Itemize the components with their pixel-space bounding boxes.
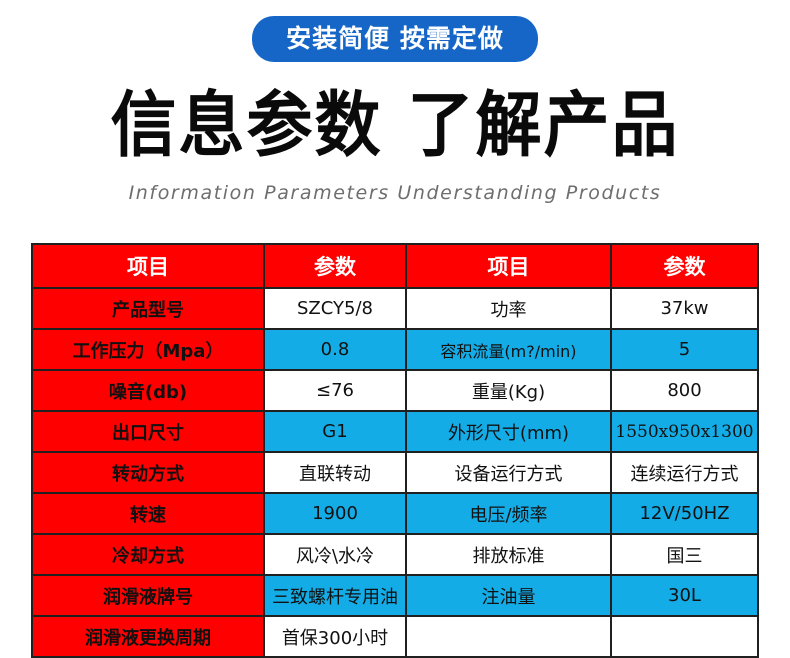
table-row: 出口尺寸G1外形尺寸(mm)1550x950x1300 [32, 411, 758, 452]
row-value-cell: 连续运行方式 [611, 452, 758, 493]
row-label-cell: 产品型号 [32, 288, 264, 329]
table-row: 冷却方式风冷\水冷排放标准国三 [32, 534, 758, 575]
row-label-cell: 工作压力（Mpa） [32, 329, 264, 370]
page-subtitle: Information Parameters Understanding Pro… [0, 182, 790, 204]
specification-table: 项目 参数 项目 参数 产品型号SZCY5/8功率37kw工作压力（Mpa）0.… [31, 243, 759, 658]
row-value-cell: G1 [264, 411, 406, 452]
row-value-cell: 外形尺寸(mm) [406, 411, 611, 452]
row-label-cell: 润滑液更换周期 [32, 616, 264, 657]
row-value-cell: 12V/50HZ [611, 493, 758, 534]
table-row: 工作压力（Mpa）0.8容积流量(m?/min)5 [32, 329, 758, 370]
row-value-cell: 30L [611, 575, 758, 616]
row-label-cell: 转动方式 [32, 452, 264, 493]
row-value-cell: 5 [611, 329, 758, 370]
table-row: 润滑液牌号三致螺杆专用油注油量30L [32, 575, 758, 616]
row-value-cell: 重量(Kg) [406, 370, 611, 411]
row-value-cell: 风冷\水冷 [264, 534, 406, 575]
header-cell-item-1: 项目 [32, 244, 264, 288]
row-label-cell: 润滑液牌号 [32, 575, 264, 616]
row-label-cell: 冷却方式 [32, 534, 264, 575]
table-header-row: 项目 参数 项目 参数 [32, 244, 758, 288]
page-title: 信息参数 了解产品 [0, 90, 790, 161]
row-label-cell: 出口尺寸 [32, 411, 264, 452]
row-value-cell: 1550x950x1300 [611, 411, 758, 452]
badge-container: 安装简便 按需定做 [0, 0, 790, 62]
row-value-cell: 800 [611, 370, 758, 411]
header-cell-item-2: 项目 [406, 244, 611, 288]
row-value-cell: 三致螺杆专用油 [264, 575, 406, 616]
row-value-cell [406, 616, 611, 657]
spec-table-container: 项目 参数 项目 参数 产品型号SZCY5/8功率37kw工作压力（Mpa）0.… [31, 243, 757, 658]
row-label-cell: 转速 [32, 493, 264, 534]
row-value-cell: 首保300小时 [264, 616, 406, 657]
row-value-cell: 设备运行方式 [406, 452, 611, 493]
row-value-cell: 注油量 [406, 575, 611, 616]
table-row: 转动方式直联转动设备运行方式连续运行方式 [32, 452, 758, 493]
row-value-cell: SZCY5/8 [264, 288, 406, 329]
header-cell-param-2: 参数 [611, 244, 758, 288]
row-value-cell: 1900 [264, 493, 406, 534]
table-row: 润滑液更换周期首保300小时 [32, 616, 758, 657]
row-value-cell: ≤76 [264, 370, 406, 411]
table-row: 噪音(db)≤76重量(Kg)800 [32, 370, 758, 411]
row-label-cell: 噪音(db) [32, 370, 264, 411]
row-value-cell: 国三 [611, 534, 758, 575]
promo-badge: 安装简便 按需定做 [252, 16, 538, 62]
table-row: 转速1900电压/频率12V/50HZ [32, 493, 758, 534]
row-value-cell: 直联转动 [264, 452, 406, 493]
row-value-cell: 0.8 [264, 329, 406, 370]
row-value-cell [611, 616, 758, 657]
table-row: 产品型号SZCY5/8功率37kw [32, 288, 758, 329]
row-value-cell: 37kw [611, 288, 758, 329]
row-value-cell: 容积流量(m?/min) [406, 329, 611, 370]
row-value-cell: 电压/频率 [406, 493, 611, 534]
row-value-cell: 排放标准 [406, 534, 611, 575]
header-cell-param-1: 参数 [264, 244, 406, 288]
row-value-cell: 功率 [406, 288, 611, 329]
